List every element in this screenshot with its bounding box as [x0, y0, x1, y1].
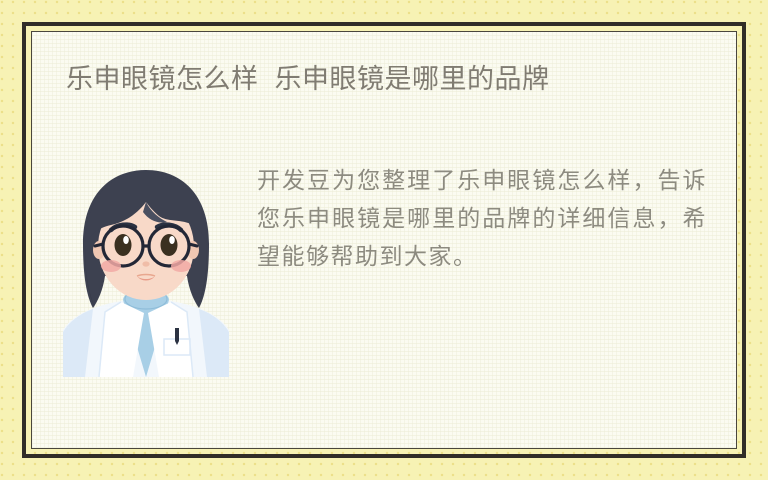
article-paragraph: 开发豆为您整理了乐申眼镜怎么样，告诉您乐申眼镜是哪里的品牌的详细信息，希望能够帮…	[257, 162, 707, 276]
page-root: 乐申眼镜怎么样 乐申眼镜是哪里的品牌	[0, 0, 768, 480]
content-card: 乐申眼镜怎么样 乐申眼镜是哪里的品牌	[31, 31, 737, 449]
nose-shape	[142, 261, 149, 266]
glasses-temple-left	[95, 244, 103, 246]
blush-right	[171, 260, 191, 272]
eye-right	[161, 234, 178, 256]
eye-left-highlight	[123, 236, 129, 244]
avatar-illustration-svg	[63, 162, 229, 377]
avatar	[63, 162, 229, 377]
blush-left	[101, 260, 121, 272]
eye-left	[115, 234, 132, 256]
glasses-temple-right	[189, 244, 197, 246]
eye-right-highlight	[169, 236, 175, 244]
article-body: 开发豆为您整理了乐申眼镜怎么样，告诉您乐申眼镜是哪里的品牌的详细信息，希望能够帮…	[32, 154, 736, 448]
page-title: 乐申眼镜怎么样 乐申眼镜是哪里的品牌	[66, 58, 706, 100]
